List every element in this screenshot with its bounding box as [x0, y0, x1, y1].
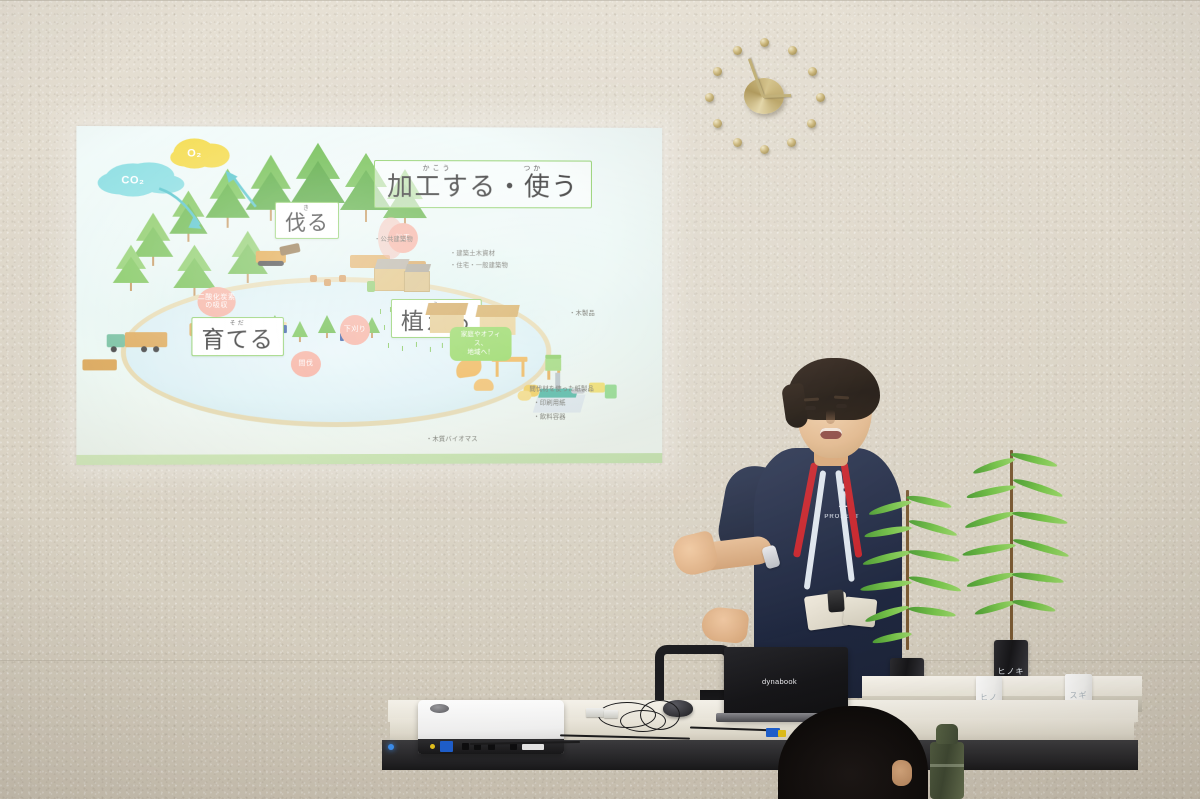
clock-marker-5: [787, 138, 796, 147]
slide-footer-band: [76, 453, 662, 465]
usb-connector: [586, 708, 604, 717]
presenter-hand-left: [670, 530, 720, 579]
label-kiru: き 伐る: [275, 202, 339, 239]
clock-marker-8: [713, 119, 722, 128]
badge-clip: [827, 589, 844, 612]
annotation-public-building: ・公共建築物: [374, 235, 413, 245]
co2-label: CO₂: [121, 174, 144, 186]
annotation-paper-from-thinned-wood: 間伐材を使った紙製品: [529, 385, 593, 395]
stump: [339, 275, 346, 282]
plant-sugi: スギ: [862, 470, 972, 700]
clock-minute-hand: [763, 94, 791, 98]
projector-lens: [430, 704, 449, 713]
clock-marker-7: [733, 138, 742, 147]
annotation-printing-paper: ・印刷用紙: [533, 399, 565, 409]
clock-marker-12: [760, 38, 769, 47]
annotation-wood-products: ・木製品: [569, 309, 595, 319]
yellow-plug: [778, 730, 786, 737]
beverage-carton: [605, 385, 617, 399]
annotation-woody-biomass: ・木質バイオマス: [426, 435, 478, 445]
log-stack: [82, 359, 116, 370]
clock-marker-2: [808, 67, 817, 76]
clock-marker-4: [807, 119, 816, 128]
projector-vent: [522, 744, 544, 750]
room-scene: CO₂ O₂: [0, 0, 1200, 799]
clock-marker-3: [816, 93, 825, 102]
heading-text: 加工する・使う: [387, 173, 579, 201]
desk-led-indicator: [388, 744, 394, 750]
clock-marker-1: [788, 46, 797, 55]
plant-hinoki: ヒノキ: [962, 440, 1078, 702]
tag-co2-absorption: 二酸化炭素の吸収: [197, 287, 235, 317]
presenter-hand-right: [700, 606, 749, 645]
slide-heading: かこう つか 加工する・使う: [374, 160, 591, 208]
projector-power-led: [430, 744, 435, 749]
tag-kanbatsu: 間伐: [291, 351, 321, 377]
co2-cloud: CO₂: [105, 163, 162, 196]
cable-loop: [640, 700, 680, 730]
plant-stem: [906, 490, 909, 650]
clock-marker-10: [713, 67, 722, 76]
community-bubble: 家庭やオフィス、 地域へ！: [450, 327, 512, 361]
wall-clock: [703, 38, 825, 154]
annotation-beverage-container: ・飲料容器: [533, 413, 565, 423]
presenter-eye-left: [805, 406, 816, 410]
projector-port: [462, 743, 469, 750]
thermos-body: [930, 742, 964, 799]
label-sodateru: そだ 育てる: [191, 317, 283, 356]
annotation-construction-materials: ・建築土木資材: [450, 249, 495, 259]
presenter-eye-right: [836, 404, 847, 408]
vga-plug: [440, 741, 453, 752]
presenter-nose: [826, 410, 835, 424]
harvester-machine: [256, 245, 300, 265]
projection-screen: CO₂ O₂: [76, 126, 662, 465]
presenter-mouth: [820, 428, 842, 439]
o2-cloud: O₂: [173, 138, 215, 168]
thermos-ring: [930, 764, 964, 767]
annotation-housing: ・住宅・一般建築物: [450, 261, 508, 271]
thermos-bottle[interactable]: [930, 724, 964, 799]
o2-label: O₂: [187, 147, 202, 159]
side-table-top: [862, 676, 1142, 698]
tag-shitagari: 下刈り: [340, 315, 370, 345]
clock-marker-6: [760, 145, 769, 154]
stump: [324, 279, 331, 286]
projector-port: [510, 743, 517, 750]
wall-seam-top: [0, 0, 1200, 1]
projector[interactable]: [418, 700, 564, 754]
stump: [310, 275, 317, 282]
clock-marker-11: [733, 46, 742, 55]
clock-marker-9: [705, 93, 714, 102]
thermos-cap: [936, 724, 958, 744]
laptop-brand-logo: dynabook: [762, 677, 797, 686]
usb-connector: [604, 710, 618, 718]
